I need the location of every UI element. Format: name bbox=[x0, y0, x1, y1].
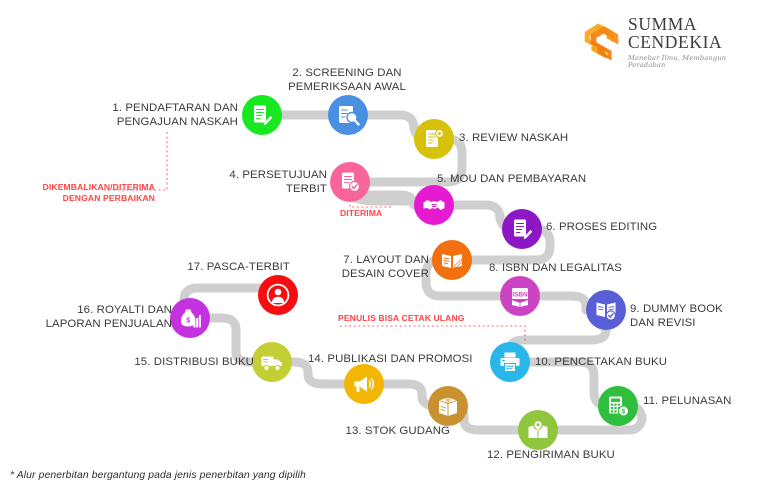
step-label-1: 1. PENDAFTARAN DAN PENGAJUAN NASKAH bbox=[112, 101, 238, 129]
document-edit-icon bbox=[510, 217, 534, 241]
book-check-icon bbox=[594, 298, 618, 322]
step-node-13[interactable] bbox=[428, 386, 468, 426]
svg-text:$: $ bbox=[186, 318, 190, 325]
document-pen-icon bbox=[250, 103, 274, 127]
document-check-icon bbox=[338, 170, 362, 194]
flowchart-canvas: SUMMA CENDEKIA Menebar Ilmu, Membangun P… bbox=[0, 0, 768, 494]
annotation-accepted: DITERIMA bbox=[340, 208, 382, 219]
step-node-3[interactable] bbox=[414, 119, 454, 159]
step-node-12[interactable] bbox=[518, 410, 558, 450]
step-label-6: 6. PROSES EDITING bbox=[546, 220, 657, 234]
step-node-16[interactable]: $ bbox=[170, 298, 210, 338]
step-label-5: 5. MOU DAN PEMBAYARAN bbox=[437, 172, 586, 186]
step-node-6[interactable] bbox=[502, 209, 542, 249]
checklist-magnifier-icon bbox=[336, 103, 360, 127]
step-label-14: 14. PUBLIKASI DAN PROMOSI bbox=[308, 352, 473, 366]
step-label-13: 13. STOK GUDANG bbox=[346, 424, 450, 438]
truck-icon bbox=[260, 350, 284, 374]
step-node-7[interactable] bbox=[432, 240, 472, 280]
step-label-11: 11. PELUNASAN bbox=[643, 394, 731, 408]
footnote-text: * Alur penerbitan bergantung pada jenis … bbox=[10, 470, 306, 481]
step-label-15: 15. DISTRIBUSI BUKU bbox=[134, 355, 254, 369]
svg-text:$: $ bbox=[622, 408, 626, 415]
step-node-8[interactable]: ISBN bbox=[500, 276, 540, 316]
step-label-17: 17. PASCA-TERBIT bbox=[187, 260, 290, 274]
delivery-location-icon bbox=[526, 418, 550, 442]
step-node-10[interactable] bbox=[490, 342, 530, 382]
step-node-17[interactable] bbox=[258, 275, 298, 315]
calculator-money-icon: $ bbox=[606, 394, 630, 418]
handshake-icon bbox=[422, 193, 446, 217]
brand-tagline: Menebar Ilmu, Membangun Peradaban bbox=[628, 55, 764, 68]
step-label-10: 10. PENCETAKAN BUKU bbox=[535, 355, 667, 369]
step-node-14[interactable] bbox=[344, 364, 384, 404]
brand-logo: SUMMA CENDEKIA Menebar Ilmu, Membangun P… bbox=[578, 18, 764, 66]
step-node-9[interactable] bbox=[586, 290, 626, 330]
brand-name-line1: SUMMA bbox=[628, 16, 764, 34]
brand-name-line2: CENDEKIA bbox=[628, 34, 764, 52]
step-node-5[interactable] bbox=[414, 185, 454, 225]
step-node-1[interactable] bbox=[242, 95, 282, 135]
step-label-4: 4. PERSETUJUAN TERBIT bbox=[229, 168, 327, 196]
step-label-9: 9. DUMMY BOOK DAN REVISI bbox=[630, 302, 723, 330]
annotation-returned: DIKEMBALIKAN/DITERIMA DENGAN PERBAIKAN bbox=[43, 182, 155, 204]
isbn-icon: ISBN bbox=[508, 284, 532, 308]
box-inventory-icon bbox=[436, 394, 460, 418]
step-label-8: 8. ISBN DAN LEGALITAS bbox=[489, 261, 622, 275]
summa-cendekia-logo-icon bbox=[578, 21, 620, 63]
person-icon bbox=[266, 283, 290, 307]
step-label-3: 3. REVIEW NASKAH bbox=[459, 131, 568, 145]
document-review-icon bbox=[422, 127, 446, 151]
book-design-icon bbox=[440, 248, 464, 272]
step-label-2: 2. SCREENING DAN PEMERIKSAAN AWAL bbox=[288, 66, 406, 94]
step-label-12: 12. PENGIRIMAN BUKU bbox=[487, 448, 615, 462]
step-label-16: 16. ROYALTI DAN LAPORAN PENJUALAN bbox=[46, 303, 172, 331]
step-node-2[interactable] bbox=[328, 95, 368, 135]
annotation-reprint: PENULIS BISA CETAK ULANG bbox=[338, 313, 465, 324]
step-node-11[interactable]: $ bbox=[598, 386, 638, 426]
step-node-4[interactable] bbox=[330, 162, 370, 202]
printer-icon bbox=[498, 350, 522, 374]
money-bag-chart-icon: $ bbox=[178, 306, 202, 330]
step-node-15[interactable] bbox=[252, 342, 292, 382]
svg-text:ISBN: ISBN bbox=[512, 291, 528, 298]
megaphone-icon bbox=[352, 372, 376, 396]
step-label-7: 7. LAYOUT DAN DESAIN COVER bbox=[342, 253, 429, 281]
